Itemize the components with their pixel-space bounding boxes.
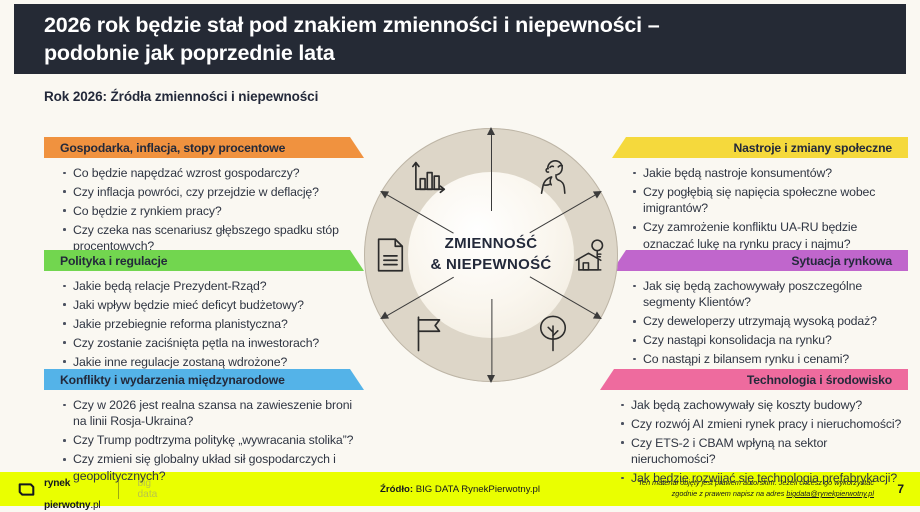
- source-note: Źródło: BIG DATA RynekPierwotny.pl: [380, 484, 540, 495]
- list-item: Jakie będą relacje Prezydent-Rząd?: [60, 278, 364, 294]
- block-politics-title: Polityka i regulacje: [44, 250, 364, 271]
- source-value: BIG DATA RynekPierwotny.pl: [413, 484, 540, 495]
- block-market: Sytuacja rynkowa Jak się będą zachowywał…: [612, 250, 908, 370]
- list-item: Jaki wpływ będzie mieć deficyt budżetowy…: [60, 297, 364, 313]
- list-item: Jakie inne regulacje zostaną wdrożone?: [60, 354, 364, 370]
- list-item: Czy ETS-2 i CBAM wpłyną na sektor nieruc…: [618, 435, 908, 468]
- list-item: Czy zamrożenie konfliktu UA-RU będzie oz…: [630, 219, 908, 252]
- slide-header-band: 2026 rok będzie stał pod znakiem zmienno…: [14, 4, 906, 74]
- block-market-title: Sytuacja rynkowa: [612, 250, 908, 271]
- list-item: Czy zostanie zaciśnięta pętla na inwesto…: [60, 335, 364, 351]
- source-label: Źródło:: [380, 484, 413, 495]
- list-item: Czy nastąpi konsolidacja na rynku?: [630, 332, 908, 348]
- worried-person-icon: [530, 154, 576, 200]
- page-title: 2026 rok będzie stał pod znakiem zmienno…: [14, 11, 660, 68]
- block-politics-list: Jakie będą relacje Prezydent-Rząd? Jaki …: [44, 278, 364, 370]
- section-subtitle: Rok 2026: Źródła zmienności i niepewnośc…: [44, 89, 318, 104]
- list-item: Czy pogłębią się napięcia społeczne wobe…: [630, 184, 908, 217]
- block-economy-list: Co będzie napędzać wzrost gospodarczy? C…: [44, 165, 364, 255]
- block-conflicts-list: Czy w 2026 jest realna szansa na zawiesz…: [44, 397, 364, 484]
- block-market-list: Jak się będą zachowywały poszczególne se…: [612, 278, 908, 368]
- document-icon: [367, 232, 413, 278]
- block-economy-title: Gospodarka, inflacja, stopy procentowe: [44, 137, 364, 158]
- block-technology: Technologia i środowisko Jak będą zachow…: [600, 369, 908, 489]
- list-item: Czy w 2026 jest realna szansa na zawiesz…: [60, 397, 364, 430]
- central-wheel: ZMIENNOŚĆ & NIEPEWNOŚĆ: [364, 128, 618, 382]
- list-item: Czy deweloperzy utrzymają wysoką podaż?: [630, 313, 908, 329]
- block-technology-list: Jak będą zachowywały się koszty budowy? …: [600, 397, 908, 487]
- list-item: Czy zmieni się globalny układ sił gospod…: [60, 451, 364, 484]
- logo-square-icon: [18, 481, 35, 498]
- list-item: Czy rozwój AI zmieni rynek pracy i nieru…: [618, 416, 908, 432]
- block-society-list: Jakie będą nastroje konsumentów? Czy pog…: [612, 165, 908, 252]
- bar-chart-icon: [406, 154, 452, 200]
- block-society-title: Nastroje i zmiany społeczne: [612, 137, 908, 158]
- list-item: Jak się będą zachowywały poszczególne se…: [630, 278, 908, 311]
- tree-icon: [530, 310, 576, 356]
- list-item: Co nastąpi z bilansem rynku i cenami?: [630, 351, 908, 367]
- block-politics: Polityka i regulacje Jakie będą relacje …: [44, 250, 364, 373]
- list-item: Czy Trump podtrzyma politykę „wywracania…: [60, 432, 364, 448]
- block-technology-title: Technologia i środowisko: [600, 369, 908, 390]
- list-item: Co będzie napędzać wzrost gospodarczy?: [60, 165, 364, 181]
- list-item: Jak będzie rozwijać się technologia pref…: [618, 470, 908, 486]
- list-item: Jakie przebiegnie reforma planistyczna?: [60, 316, 364, 332]
- list-item: Jakie będą nastroje konsumentów?: [630, 165, 908, 181]
- block-society: Nastroje i zmiany społeczne Jakie będą n…: [612, 137, 908, 255]
- house-key-icon: [569, 232, 615, 278]
- list-item: Co będzie z rynkiem pracy?: [60, 203, 364, 219]
- block-conflicts: Konflikty i wydarzenia międzynarodowe Cz…: [44, 369, 364, 487]
- flag-icon: [406, 310, 452, 356]
- list-item: Czy inflacja powróci, czy przejdzie w de…: [60, 184, 364, 200]
- block-conflicts-title: Konflikty i wydarzenia międzynarodowe: [44, 369, 364, 390]
- contact-email-link[interactable]: bigdata@rynekpierwotny.pl: [786, 489, 874, 498]
- block-economy: Gospodarka, inflacja, stopy procentowe C…: [44, 137, 364, 257]
- list-item: Jak będą zachowywały się koszty budowy?: [618, 397, 908, 413]
